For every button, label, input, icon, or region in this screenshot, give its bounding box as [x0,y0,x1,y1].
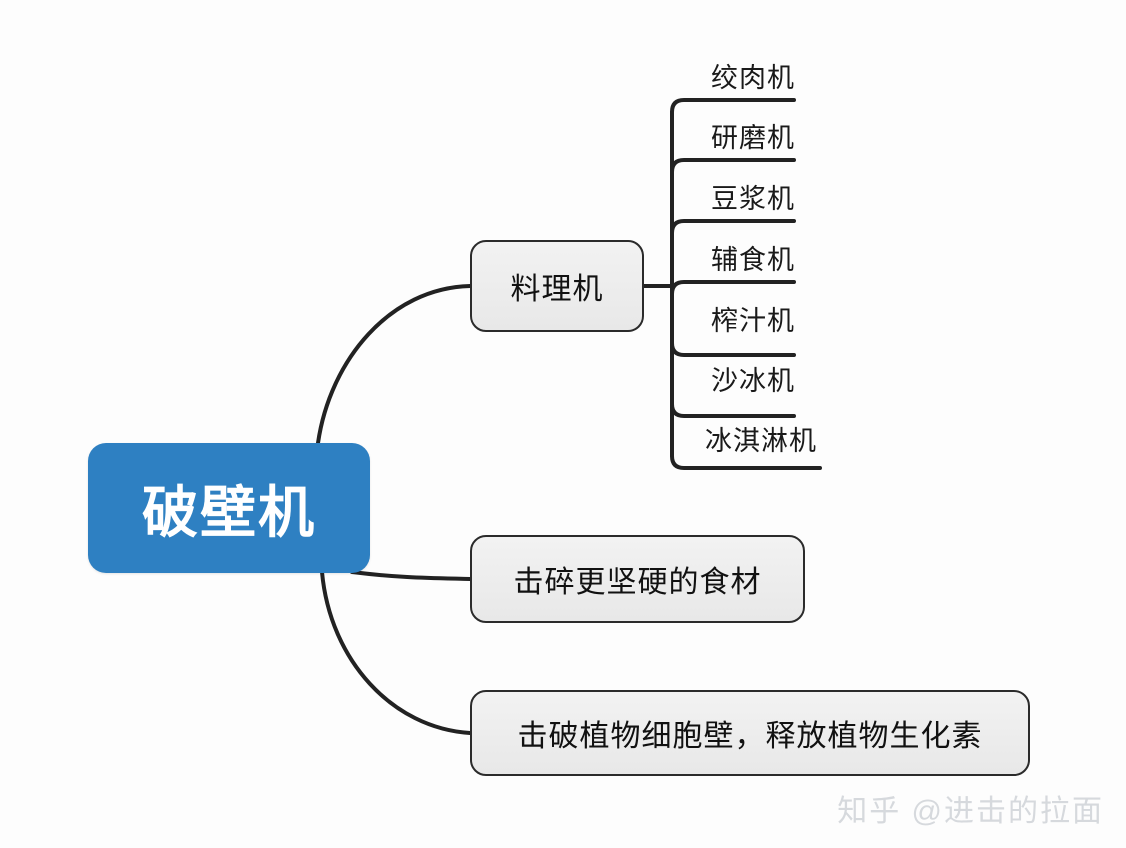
leaf-underline-5 [672,343,794,355]
branch-node-cooking-machine[interactable]: 料理机 [470,240,644,332]
watermark: 知乎 @进击的拉面 [837,786,1104,830]
leaf-node-grinder[interactable]: 研磨机 [688,113,818,157]
leaf-node-meat-grinder-label: 绞肉机 [711,56,795,95]
leaf-node-slush-machine[interactable]: 沙冰机 [688,356,818,400]
branch-node-crush-harder-food[interactable]: 击碎更坚硬的食材 [470,535,805,623]
branch-node-cooking-machine-label: 料理机 [511,264,604,308]
leaf-node-slush-machine-label: 沙冰机 [711,359,795,398]
leaf-node-baby-food-maker-label: 辅食机 [711,238,795,277]
branch-node-break-cell-wall-label: 击破植物细胞壁，释放植物生化素 [518,711,983,755]
leaf-node-ice-cream-maker[interactable]: 冰淇淋机 [686,416,836,460]
leaf-node-juicer-label: 榨汁机 [711,299,795,338]
leaf-node-soy-milk-maker[interactable]: 豆浆机 [688,174,818,218]
leaf-node-juicer[interactable]: 榨汁机 [688,296,818,340]
edge-root-to-cellwall [322,572,470,733]
leaf-node-baby-food-maker[interactable]: 辅食机 [688,235,818,279]
branch-node-crush-harder-food-label: 击碎更坚硬的食材 [514,557,762,601]
edge-root-to-crush [352,572,470,579]
leaf-node-ice-cream-maker-label: 冰淇淋机 [705,419,817,458]
leaf-underline-6 [672,404,794,416]
leaf-underline-1 [672,100,794,112]
leaf-node-grinder-label: 研磨机 [711,116,795,155]
root-node-breaking-wall-machine[interactable]: 破壁机 [88,443,370,573]
watermark-text: 知乎 @进击的拉面 [837,795,1104,828]
leaf-underline-4 [672,282,794,294]
leaf-underline-2 [672,160,794,172]
edge-root-to-cooking [318,286,470,443]
leaf-node-soy-milk-maker-label: 豆浆机 [711,177,795,216]
leaf-node-meat-grinder[interactable]: 绞肉机 [688,53,818,97]
root-node-label: 破壁机 [142,468,316,549]
leaf-underline-3 [672,221,794,233]
branch-node-break-cell-wall[interactable]: 击破植物细胞壁，释放植物生化素 [470,690,1030,776]
mindmap-canvas: 破壁机 料理机 击碎更坚硬的食材 击破植物细胞壁，释放植物生化素 绞肉机 研磨机… [0,0,1126,848]
